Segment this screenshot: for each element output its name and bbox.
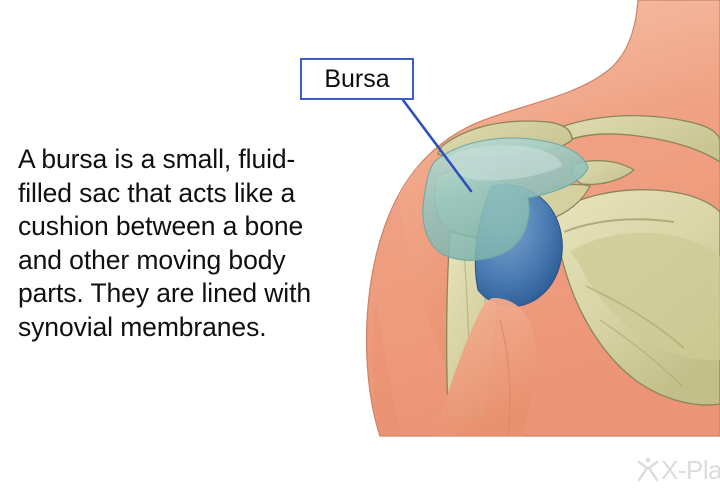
callout-label-text: Bursa bbox=[324, 67, 389, 92]
watermark-text: X-Plain bbox=[661, 455, 720, 486]
bursa-callout-label[interactable]: Bursa bbox=[300, 58, 414, 100]
x-plain-figure-icon bbox=[636, 456, 660, 484]
x-plain-watermark: X-Plain bbox=[636, 452, 720, 488]
illustration-page: A bursa is a small, fluid-filled sac tha… bbox=[0, 0, 720, 494]
description-text: A bursa is a small, fluid-filled sac tha… bbox=[18, 143, 348, 344]
